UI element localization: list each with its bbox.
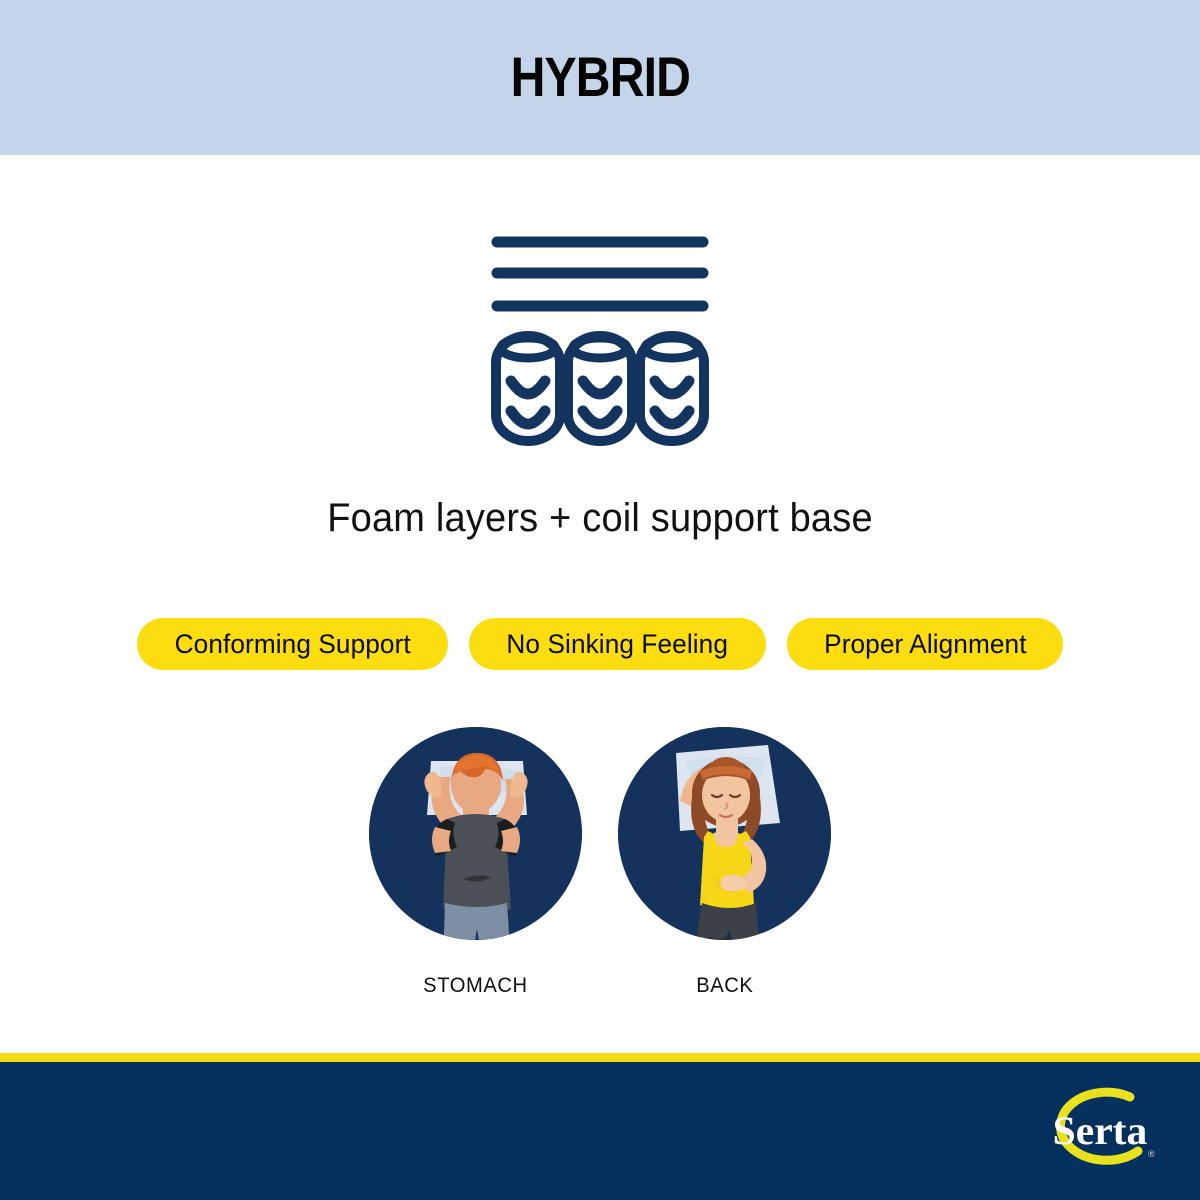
benefit-pill-proper-alignment[interactable]: Proper Alignment xyxy=(787,618,1064,670)
support-coil-3 xyxy=(640,336,704,441)
stomach-sleeper-illustration xyxy=(369,727,582,940)
infographic-page: HYBRID xyxy=(0,0,1200,1200)
page-footer xyxy=(0,1062,1200,1200)
serta-logo-mark: Serta ® xyxy=(1044,1085,1162,1177)
sleep-position-list: STOMACH xyxy=(0,727,1200,998)
benefit-pill-no-sinking-feeling[interactable]: No Sinking Feeling xyxy=(469,618,765,670)
mattress-hybrid-icon xyxy=(485,218,715,448)
sleep-position-stomach[interactable]: STOMACH xyxy=(369,727,582,998)
footer-accent-stripe xyxy=(0,1053,1200,1062)
support-coil-2 xyxy=(568,336,632,441)
benefit-pill-label: Proper Alignment xyxy=(824,629,1026,660)
mattress-icon-container xyxy=(0,218,1200,468)
sleep-position-label: BACK xyxy=(696,974,753,998)
sleep-position-label: STOMACH xyxy=(423,974,527,998)
registered-trademark-mark: ® xyxy=(1148,1149,1155,1159)
stomach-sleeper-circle xyxy=(369,727,582,940)
page-header: HYBRID xyxy=(0,0,1200,155)
serta-wordmark: Serta xyxy=(1053,1109,1148,1153)
benefit-pill-conforming-support[interactable]: Conforming Support xyxy=(137,618,448,670)
back-sleeper-circle xyxy=(618,727,831,940)
benefit-pill-label: Conforming Support xyxy=(174,629,410,660)
sleep-position-back[interactable]: BACK xyxy=(618,727,831,998)
support-coil-1 xyxy=(496,336,560,441)
headline-text: Foam layers + coil support base xyxy=(30,496,1170,541)
page-title: HYBRID xyxy=(510,49,689,105)
benefit-pill-label: No Sinking Feeling xyxy=(507,629,729,660)
benefit-pill-list: Conforming Support No Sinking Feeling Pr… xyxy=(0,618,1200,670)
back-sleeper-illustration xyxy=(618,727,831,940)
serta-logo[interactable]: Serta ® xyxy=(1044,1085,1162,1177)
